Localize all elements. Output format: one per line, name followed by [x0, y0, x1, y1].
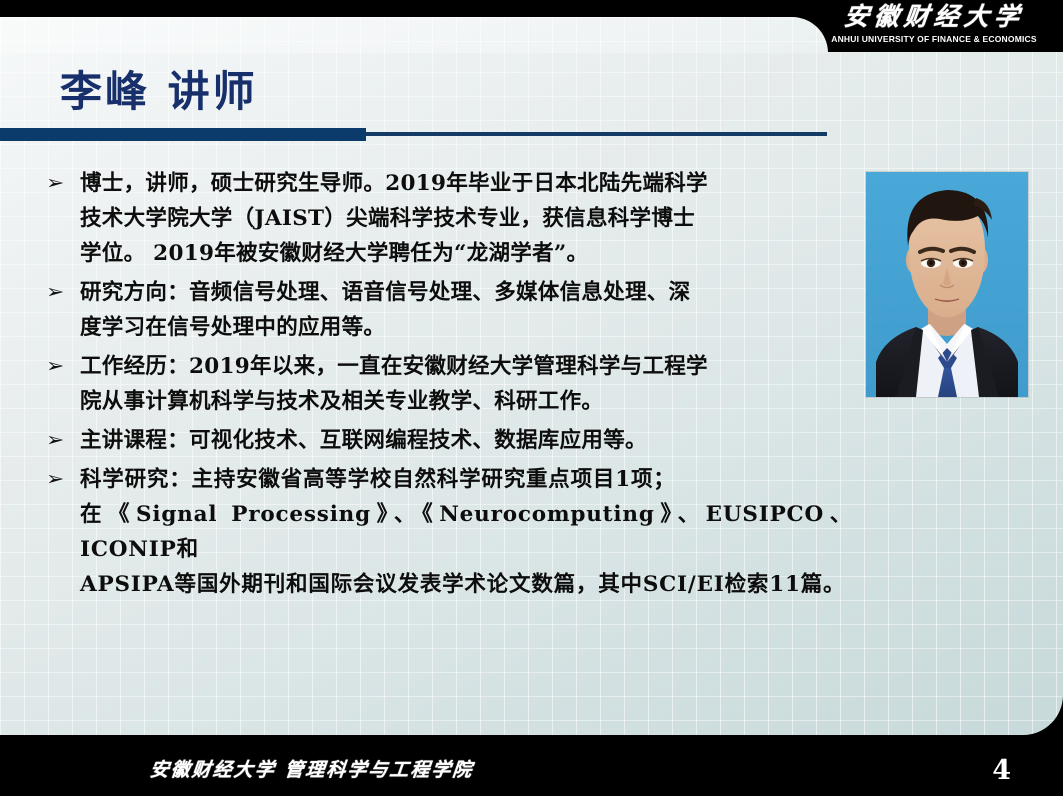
list-item-line: APSIPA等国外期刊和国际会议发表学术论文数篇，其中SCI/EI检索11篇。: [80, 567, 852, 602]
list-item: ➢ 主讲课程：可视化技术、互联网编程技术、数据库应用等。: [42, 423, 852, 458]
header-panel-notch: [0, 17, 828, 53]
page-number: 4: [992, 755, 1011, 786]
presentation-slide: 安徽财经大学 ANHUI UNIVERSITY OF FINANCE & ECO…: [0, 0, 1063, 796]
list-item-text: 博士，讲师，硕士研究生导师。2019年毕业于日本北陆先端科学 技术大学院大学（J…: [80, 166, 852, 271]
list-item-line: 主讲课程：可视化技术、互联网编程技术、数据库应用等。: [80, 423, 852, 458]
list-item-text: 科学研究：主持安徽省高等学校自然科学研究重点项目1项； 在《Signal Pro…: [80, 462, 852, 602]
list-item-text: 工作经历：2019年以来，一直在安徽财经大学管理科学与工程学 院从事计算机科学与…: [80, 349, 852, 419]
list-item: ➢ 博士，讲师，硕士研究生导师。2019年毕业于日本北陆先端科学 技术大学院大学…: [42, 166, 852, 271]
list-item-text: 研究方向：音频信号处理、语音信号处理、多媒体信息处理、深 度学习在信号处理中的应…: [80, 275, 852, 345]
arrow-bullet-icon: ➢: [39, 423, 83, 458]
portrait-photo-illustration: [866, 172, 1028, 397]
university-logo-chinese: 安徽财经大学: [817, 2, 1050, 32]
title-rule-thin: [366, 132, 827, 136]
list-item-line: 技术大学院大学（JAIST）尖端科学技术专业，获信息科学博士: [80, 201, 852, 236]
arrow-bullet-icon: ➢: [39, 349, 83, 384]
list-item-line: 研究方向：音频信号处理、语音信号处理、多媒体信息处理、深: [80, 275, 852, 310]
list-item: ➢ 研究方向：音频信号处理、语音信号处理、多媒体信息处理、深 度学习在信号处理中…: [42, 275, 852, 345]
list-item: ➢ 科学研究：主持安徽省高等学校自然科学研究重点项目1项； 在《Signal P…: [42, 462, 852, 602]
list-item-line: 在《Signal Processing》、《Neurocomputing》、EU…: [80, 497, 852, 567]
portrait-photo: [866, 172, 1028, 397]
university-logo-english: ANHUI UNIVERSITY OF FINANCE & ECONOMICS: [819, 33, 1049, 45]
page-title: 李峰 讲师: [60, 58, 258, 119]
list-item-line: 科学研究：主持安徽省高等学校自然科学研究重点项目1项；: [80, 462, 852, 497]
footer-text: 安徽财经大学 管理科学与工程学院: [149, 755, 475, 782]
list-item-line: 院从事计算机科学与技术及相关专业教学、科研工作。: [80, 384, 852, 419]
arrow-bullet-icon: ➢: [39, 166, 83, 201]
title-rule-thick: [0, 128, 366, 141]
arrow-bullet-icon: ➢: [39, 275, 83, 310]
list-item-line: 度学习在信号处理中的应用等。: [80, 310, 852, 345]
list-item: ➢ 工作经历：2019年以来，一直在安徽财经大学管理科学与工程学 院从事计算机科…: [42, 349, 852, 419]
list-item-text: 主讲课程：可视化技术、互联网编程技术、数据库应用等。: [80, 423, 852, 458]
bullet-list: ➢ 博士，讲师，硕士研究生导师。2019年毕业于日本北陆先端科学 技术大学院大学…: [42, 166, 852, 606]
list-item-line: 学位。 2019年被安徽财经大学聘任为“龙湖学者”。: [80, 236, 852, 271]
list-item-line: 博士，讲师，硕士研究生导师。2019年毕业于日本北陆先端科学: [80, 166, 852, 201]
university-logo: 安徽财经大学 ANHUI UNIVERSITY OF FINANCE & ECO…: [819, 2, 1049, 50]
arrow-bullet-icon: ➢: [39, 462, 83, 497]
list-item-line: 工作经历：2019年以来，一直在安徽财经大学管理科学与工程学: [80, 349, 852, 384]
